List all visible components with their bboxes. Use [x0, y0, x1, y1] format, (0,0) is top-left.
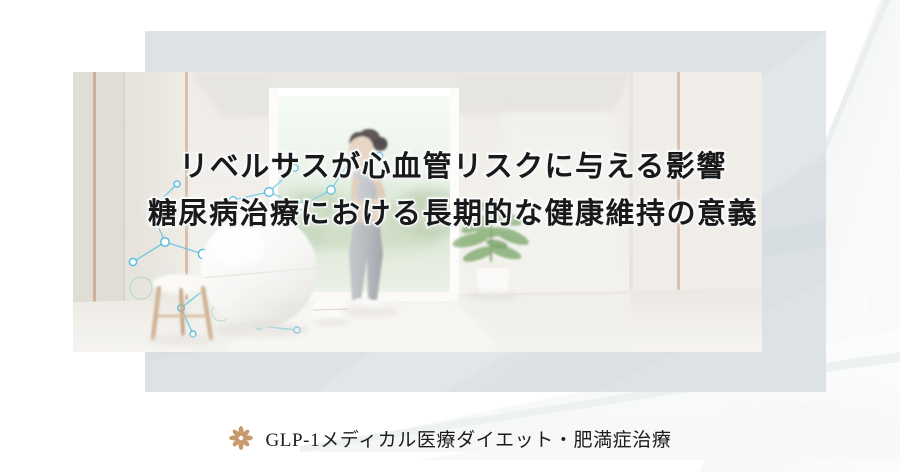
headline-line-1: リベルサスが心血管リスクに与える影響	[73, 145, 833, 188]
banner-root: リベルサスが心血管リスクに与える影響 糖尿病治療における長期的な健康維持の意義	[0, 0, 900, 472]
headline-line-2: 糖尿病治療における長期的な健康維持の意義	[73, 192, 833, 235]
headline: リベルサスが心血管リスクに与える影響 糖尿病治療における長期的な健康維持の意義	[73, 145, 833, 235]
footer-brand-label: GLP-1メディカル医療ダイエット・肥満症治療	[265, 425, 671, 452]
flower-icon	[228, 425, 254, 451]
footer-brand: GLP-1メディカル医療ダイエット・肥満症治療	[0, 418, 900, 458]
